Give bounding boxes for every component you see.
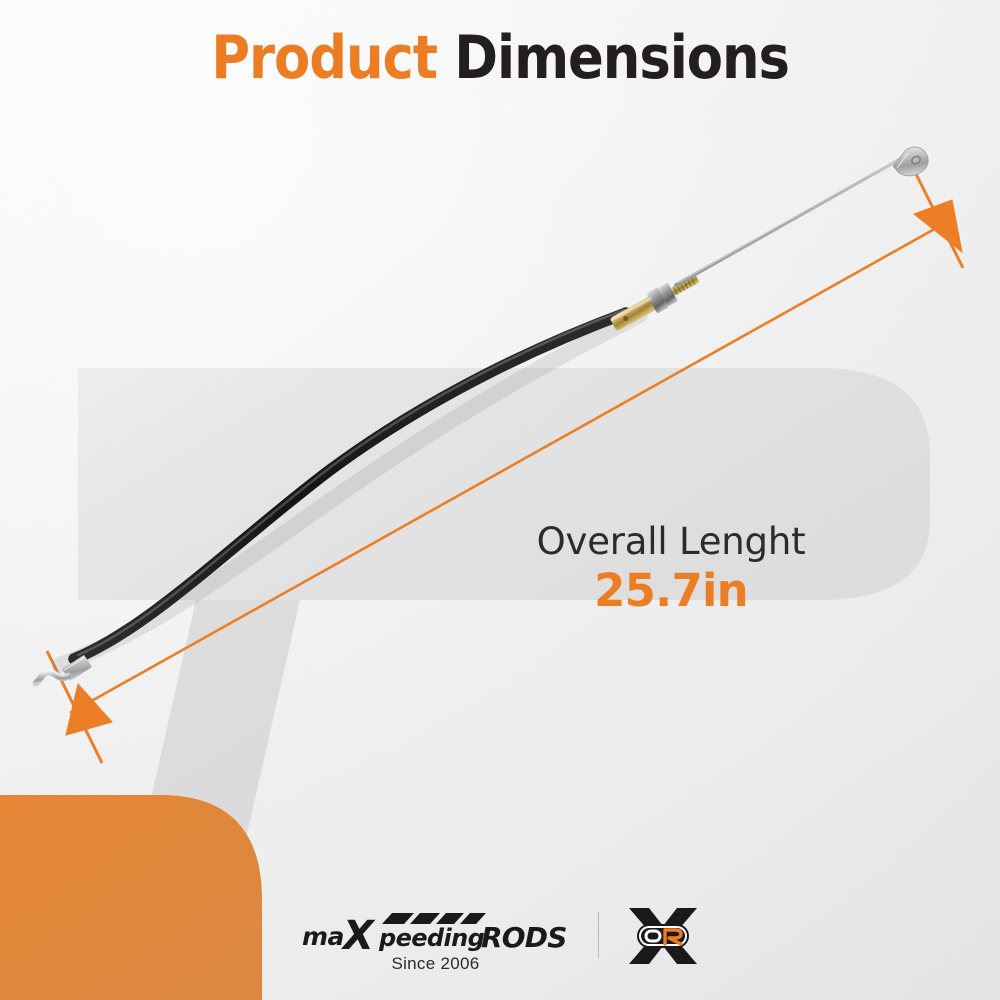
wordmark-suffix: RODS (481, 921, 567, 951)
product-dimensions-infographic: Product Dimensions Overall Lenght 25.7in… (0, 0, 1000, 1000)
footer-branding: ma X peeding RODS Since 2006 (0, 906, 1000, 978)
dimension-arrowhead-top (914, 200, 962, 252)
maxpeedingrods-logo: ma X peeding RODS Since 2006 (300, 911, 572, 974)
flat-eyelet-end (893, 147, 928, 176)
title-highlight: Product (211, 23, 437, 93)
maxpeedingrods-wordmark: ma X peeding RODS (300, 911, 572, 951)
wordmark-x: X (340, 913, 376, 951)
eyelet-plate (893, 147, 928, 176)
dimension-callout: Overall Lenght 25.7in (506, 521, 836, 618)
page-title: Product Dimensions (0, 24, 1000, 93)
title-main: Dimensions (454, 23, 789, 93)
brand-tagline: Since 2006 (391, 954, 479, 974)
wordmark-mid: peeding (378, 924, 485, 951)
dimension-label: Overall Lenght (506, 521, 836, 562)
oxr-badge-logo (625, 906, 701, 966)
wordmark-prefix: ma (302, 922, 344, 951)
dimension-line-group (47, 152, 963, 763)
product-and-dimension-layer (0, 0, 1000, 1000)
inner-wire-highlight (678, 159, 896, 283)
dimension-measure-line (70, 222, 947, 713)
racing-stripes-icon (382, 913, 486, 924)
footer-divider (598, 912, 599, 958)
dimension-value: 25.7in (506, 564, 836, 617)
bare-inner-wire (676, 160, 898, 285)
dimension-arrowhead-bottom (66, 684, 112, 735)
